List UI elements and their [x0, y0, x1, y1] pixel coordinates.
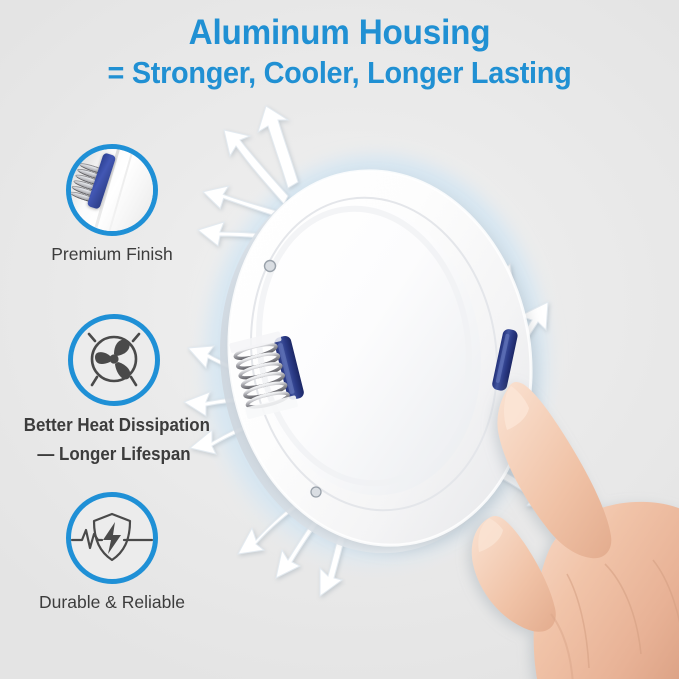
feature-label-secondary: — Longer Lifespan [24, 444, 204, 464]
feature-icon-circle [66, 144, 158, 236]
feature-durable-reliable: Durable & Reliable [22, 492, 202, 613]
rim-screw-lower [311, 487, 321, 497]
product-feature-graphic: Aluminum Housing = Stronger, Cooler, Lon… [0, 0, 679, 679]
headline-line-1: Aluminum Housing [17, 14, 662, 51]
feature-icon-circle [66, 492, 158, 584]
feature-heat-dissipation: Better Heat Dissipation — Longer Lifespa… [18, 314, 210, 464]
shield-lightning-icon [70, 496, 154, 580]
hand-touching-fixture [455, 368, 679, 679]
spring-clip-photo-icon [71, 149, 153, 231]
feature-label: Better Heat Dissipation [24, 415, 204, 435]
feature-label: Premium Finish [22, 245, 202, 265]
headline: Aluminum Housing = Stronger, Cooler, Lon… [0, 14, 679, 90]
feature-label: Durable & Reliable [22, 593, 202, 613]
feature-icon-circle [68, 314, 160, 406]
headline-line-2: = Stronger, Cooler, Longer Lasting [24, 57, 655, 90]
rim-screw-upper [265, 261, 276, 272]
feature-premium-finish: Premium Finish [22, 144, 202, 265]
cooling-fan-icon [73, 319, 155, 401]
